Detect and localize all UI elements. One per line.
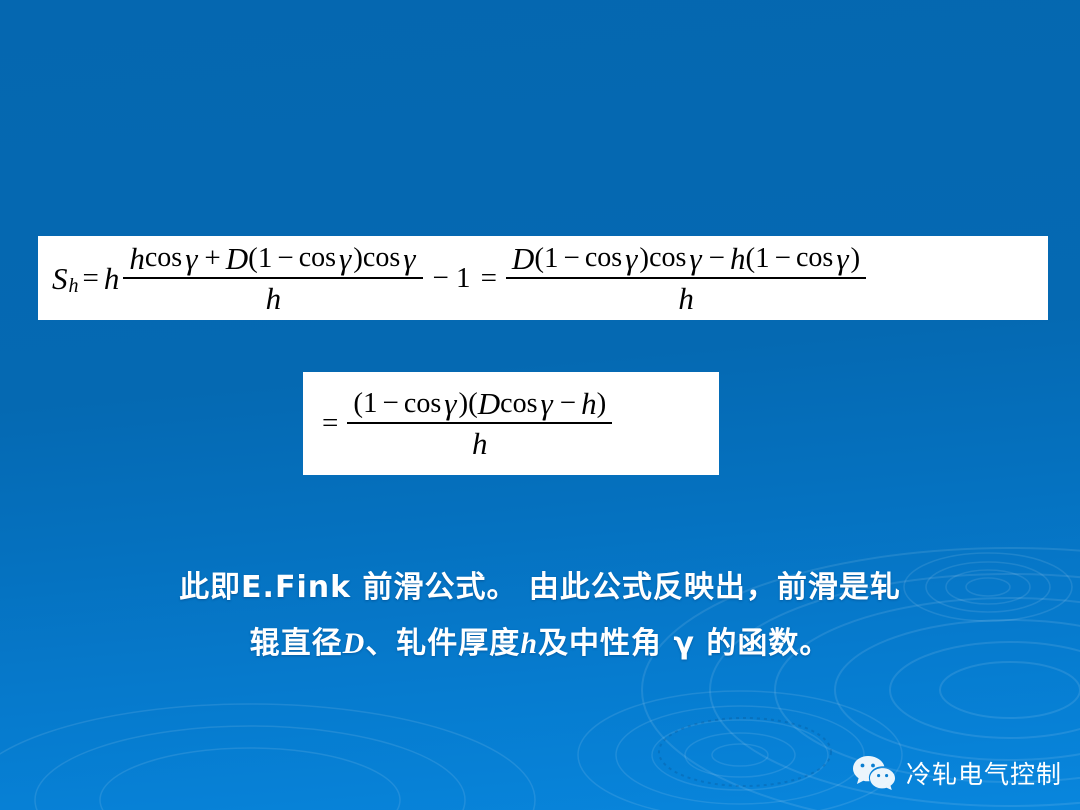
num3-h: h	[581, 388, 597, 419]
fraction-1: h cos γ + D ( 1 − cos γ ) cos γ h	[123, 243, 423, 314]
formula-1-expression: Sh = h h cos γ + D ( 1 − cos γ ) cos γ	[52, 243, 870, 314]
fraction-3-denominator: h	[466, 424, 494, 459]
fraction-2-denominator: h	[672, 279, 700, 314]
num2-minus-1: −	[558, 244, 584, 273]
wechat-watermark: 冷轧电气控制	[852, 754, 1062, 792]
fraction-1-denominator: h	[260, 279, 288, 314]
watermark-label: 冷轧电气控制	[906, 755, 1062, 791]
subscript-h: h	[69, 275, 79, 298]
fraction-3-numerator: ( 1 − cos γ ) ( D cos γ − h )	[347, 388, 612, 422]
num1-cos-2: cos	[299, 244, 337, 272]
num2-one-2: 1	[755, 244, 770, 273]
num1-plus: +	[199, 244, 225, 273]
num2-gamma-3: γ	[834, 243, 850, 274]
num2-D: D	[512, 243, 534, 274]
caption-line-2: 辊直径D、轧件厚度h及中性角 γ 的函数。	[0, 616, 1080, 672]
num2-minus-2: −	[704, 244, 730, 273]
fraction-3: ( 1 − cos γ ) ( D cos γ − h ) h	[347, 388, 612, 459]
fraction-1-numerator: h cos γ + D ( 1 − cos γ ) cos γ	[123, 243, 423, 277]
num2-gamma-1: γ	[623, 243, 639, 274]
fraction-2-numerator: D ( 1 − cos γ ) cos γ − h ( 1 − cos γ )	[506, 243, 866, 277]
formula-2-equals: =	[317, 409, 343, 438]
num3-gamma-2: γ	[539, 388, 555, 419]
num3-paren-close-1: )	[458, 389, 468, 418]
num2-paren-open-1: (	[534, 244, 544, 273]
caption-variable-h: h	[520, 627, 538, 660]
num1-D: D	[226, 243, 248, 274]
num2-paren-close-1: )	[639, 244, 649, 273]
num1-paren-open: (	[248, 244, 258, 273]
caption-line-2-text-4: 的函数。	[695, 626, 830, 661]
num1-one: 1	[258, 244, 273, 273]
num2-one-1: 1	[544, 244, 559, 273]
num2-cos-1: cos	[585, 244, 623, 272]
num2-h: h	[730, 243, 746, 274]
num1-h: h	[129, 243, 145, 274]
caption-variable-D: D	[343, 627, 366, 660]
num1-gamma-1: γ	[183, 243, 199, 274]
presentation-slide: Sh = h h cos γ + D ( 1 − cos γ ) cos γ	[0, 0, 1080, 810]
num1-paren-close: )	[353, 244, 363, 273]
num3-paren-open-1: (	[353, 389, 363, 418]
caption-line-2-text-2: 、轧件厚度	[365, 626, 520, 661]
num2-paren-open-2: (	[745, 244, 755, 273]
num2-minus-3: −	[770, 244, 796, 273]
den1-h: h	[266, 283, 282, 314]
caption-line-1: 此即E.Fink 前滑公式。 由此公式反映出，前滑是轧	[0, 560, 1080, 616]
minus-one-term: − 1	[427, 264, 475, 293]
num1-cos-1: cos	[145, 244, 183, 272]
num3-D: D	[478, 388, 500, 419]
fraction-2: D ( 1 − cos γ ) cos γ − h ( 1 − cos γ )	[506, 243, 866, 314]
num3-cos-1: cos	[404, 390, 442, 418]
num1-gamma-3: γ	[401, 243, 417, 274]
equals-sign-1: =	[78, 264, 104, 293]
den3-h: h	[472, 428, 488, 459]
num3-cos-2: cos	[500, 390, 538, 418]
den2-h: h	[678, 283, 694, 314]
num3-paren-open-2: (	[468, 389, 478, 418]
num2-cos-3: cos	[796, 244, 834, 272]
formula-2-expression: = ( 1 − cos γ ) ( D cos γ − h )	[317, 388, 616, 459]
slide-caption: 此即E.Fink 前滑公式。 由此公式反映出，前滑是轧 辊直径D、轧件厚度h及中…	[0, 560, 1080, 672]
num2-paren-close-2: )	[851, 244, 861, 273]
caption-line-2-text-1: 辊直径	[250, 626, 343, 661]
variable-S: S	[52, 263, 68, 294]
num3-minus-1: −	[378, 389, 404, 418]
num2-cos-2: cos	[649, 244, 687, 272]
num3-minus-2: −	[555, 389, 581, 418]
equals-sign-2: =	[476, 264, 502, 293]
num2-gamma-2: γ	[687, 243, 703, 274]
num1-minus: −	[272, 244, 298, 273]
num1-cos-3: cos	[363, 244, 401, 272]
wechat-icon	[852, 754, 896, 792]
caption-line-2-text-3: 及中性角	[538, 626, 673, 661]
num3-gamma-1: γ	[442, 388, 458, 419]
caption-variable-gamma: γ	[673, 626, 694, 661]
num3-paren-close-2: )	[597, 389, 607, 418]
formula-box-secondary: = ( 1 − cos γ ) ( D cos γ − h )	[303, 372, 719, 475]
num3-one: 1	[363, 389, 378, 418]
num1-gamma-2: γ	[337, 243, 353, 274]
factor-h: h	[104, 263, 120, 294]
formula-box-primary: Sh = h h cos γ + D ( 1 − cos γ ) cos γ	[38, 236, 1048, 320]
